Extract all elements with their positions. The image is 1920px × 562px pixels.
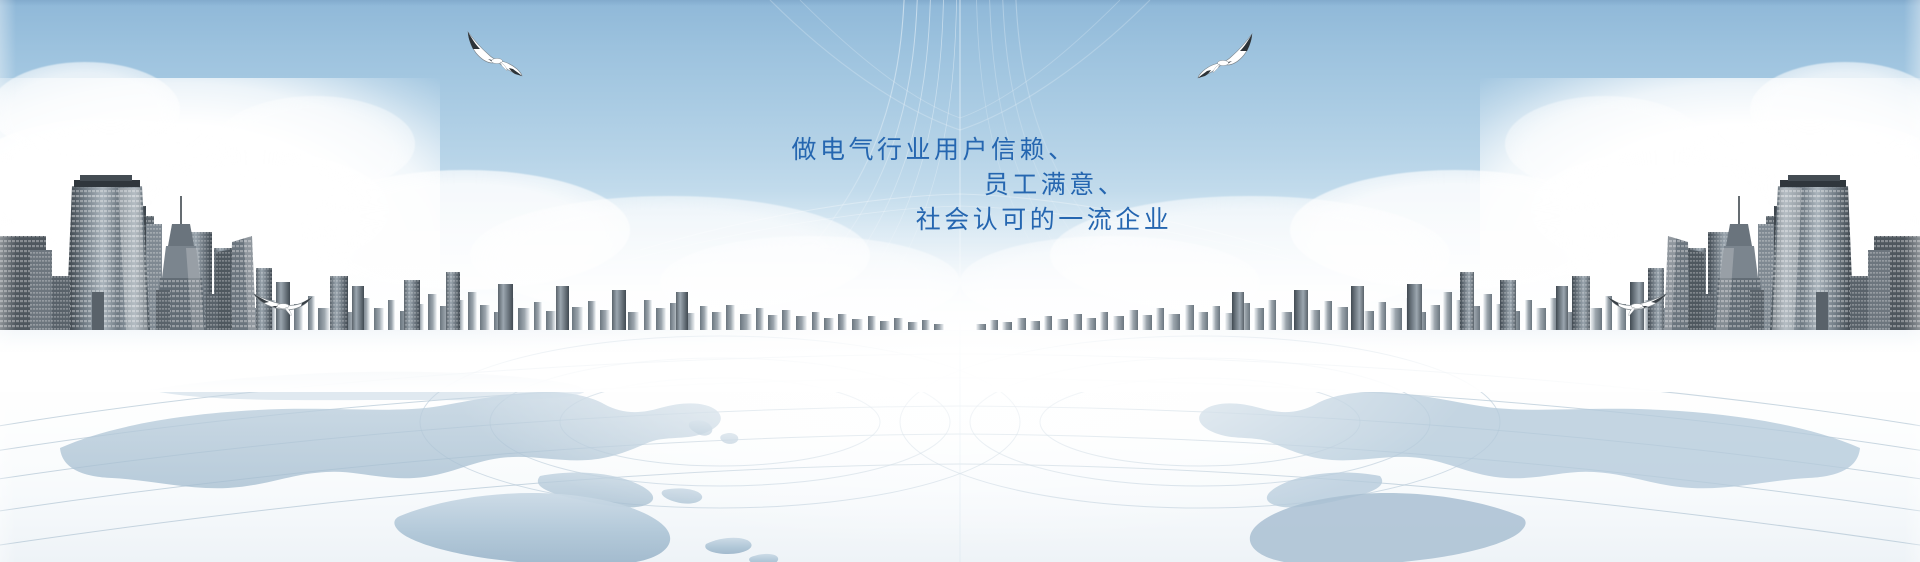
hero-banner: 做电气行业用户信赖、 员工满意、 社会认可的一流企业 [0,0,1920,562]
center-seam [959,0,961,562]
